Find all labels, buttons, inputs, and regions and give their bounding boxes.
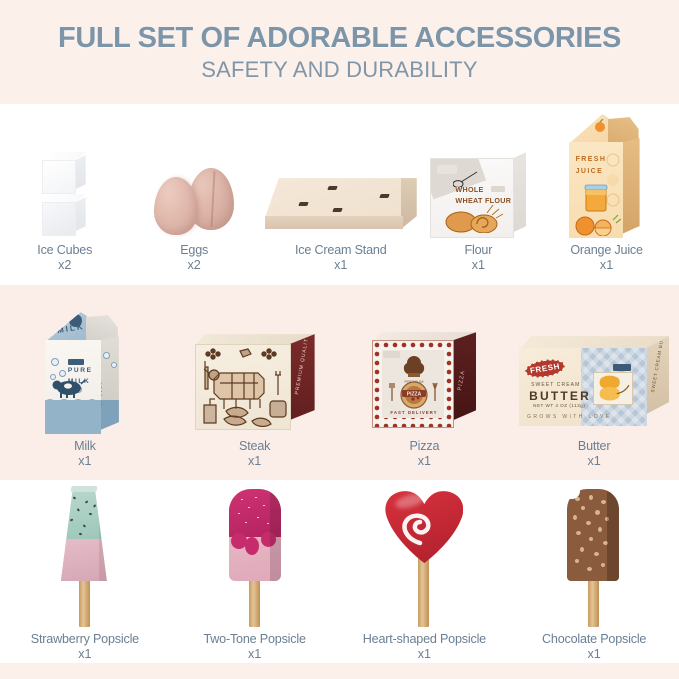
steak-box-icon: PREMIUM QUALITY BEEF [195, 334, 315, 434]
footer-band [0, 663, 679, 679]
butter-net-weight: NET WT 4 OZ (113g) [533, 403, 585, 408]
product-name: Orange Juice [570, 243, 643, 257]
product-name: Pizza [409, 439, 439, 453]
product-cell-chocolate-popsicle: Chocolate Popsicle x1 [509, 486, 679, 661]
header: FULL SET OF ADORABLE ACCESSORIES SAFETY … [0, 0, 679, 104]
caption: Chocolate Popsicle x1 [542, 632, 646, 661]
strawberry-popsicle-art [49, 489, 121, 627]
eggs-art [154, 168, 234, 238]
pizza-box-icon: PIZZA PREMIUM [372, 332, 476, 434]
product-cell-strawberry-popsicle: Strawberry Popsicle x1 [0, 486, 170, 661]
product-accessories-infographic: FULL SET OF ADORABLE ACCESSORIES SAFETY … [0, 0, 679, 679]
bread-illustration [437, 203, 509, 233]
product-qty: x2 [37, 258, 92, 272]
product-qty: x1 [295, 258, 387, 272]
product-qty: x1 [363, 647, 486, 661]
orange-juice-carton-icon: FRESH JUICE [565, 114, 649, 238]
product-name: Heart-shaped Popsicle [363, 632, 486, 646]
pizza-art: PIZZA PREMIUM [372, 332, 476, 434]
caption: Pizza x1 [409, 439, 439, 468]
ice-cream-stand-icon [265, 178, 417, 238]
heart-popsicle-icon [381, 489, 467, 627]
cow-illustration [51, 378, 85, 398]
butter-fresh-badge: FRESH [524, 357, 566, 380]
pizza-word: PIZZA [407, 391, 422, 397]
pizza-tagline: FAST DELIVERY [391, 410, 438, 415]
butter-main-text: BUTTER [529, 389, 591, 403]
oj-line1: FRESH [576, 156, 607, 163]
steak-art: PREMIUM QUALITY BEEF [195, 334, 315, 434]
caption: Heart-shaped Popsicle x1 [363, 632, 486, 661]
butter-box-icon: SWEET CREAM BUTTER FRESH SWEET CREAM BUT… [519, 336, 669, 434]
product-cell-orange-juice: FRESH JUICE [534, 112, 679, 272]
flour-art: WHOLE WHEAT FLOUR [430, 152, 526, 238]
product-name: Eggs [180, 243, 208, 257]
caption: Strawberry Popsicle x1 [31, 632, 139, 661]
oj-line2: JUICE [576, 168, 604, 175]
product-cell-two-tone-popsicle: Two-Tone Popsicle x1 [170, 486, 340, 661]
product-cell-pizza: PIZZA PREMIUM [340, 296, 510, 468]
eggs-icon [154, 168, 234, 238]
chocolate-popsicle-icon [559, 489, 629, 627]
product-cell-flour: WHOLE WHEAT FLOUR Flour x1 [423, 112, 535, 272]
ice-cubes-icon [34, 150, 96, 238]
product-qty: x1 [31, 647, 139, 661]
product-qty: x1 [239, 454, 270, 468]
product-name: Two-Tone Popsicle [203, 632, 305, 646]
strawberry-popsicle-icon [49, 489, 121, 627]
caption: Ice Cream Stand x1 [295, 243, 387, 272]
page-subtitle: SAFETY AND DURABILITY [201, 57, 477, 83]
product-name: Butter [578, 439, 610, 453]
flour-box-icon: WHOLE WHEAT FLOUR [430, 152, 526, 238]
caption: Steak x1 [239, 439, 270, 468]
milk-top-text: MILK [56, 322, 85, 335]
product-cell-steak: PREMIUM QUALITY BEEF [170, 296, 340, 468]
product-name: Ice Cubes [37, 243, 92, 257]
caption: Two-Tone Popsicle x1 [203, 632, 305, 661]
ice-cream-stand-art [265, 178, 417, 238]
product-cell-eggs: Eggs x2 [129, 112, 258, 272]
product-row-2: MILK MILK PURE MILK [0, 296, 679, 468]
product-name: Strawberry Popsicle [31, 632, 139, 646]
product-row-3: Strawberry Popsicle x1 [0, 486, 679, 661]
product-qty: x1 [203, 647, 305, 661]
product-name: Milk [74, 439, 96, 453]
product-qty: x1 [542, 647, 646, 661]
heart-popsicle-art [381, 489, 467, 627]
product-qty: x1 [74, 454, 96, 468]
butcher-diagram-illustration [196, 345, 291, 430]
product-qty: x1 [578, 454, 610, 468]
caption: Ice Cubes x2 [37, 243, 92, 272]
product-cell-milk: MILK MILK PURE MILK [0, 296, 170, 468]
pizza-side-text: PIZZA [457, 370, 466, 391]
caption: Milk x1 [74, 439, 96, 468]
milk-front-line1: PURE [68, 367, 93, 374]
fruit-pattern [605, 150, 621, 220]
milk-art: MILK MILK PURE MILK [41, 312, 129, 434]
product-cell-heart-popsicle: Heart-shaped Popsicle x1 [340, 486, 510, 661]
product-row-1: Ice Cubes x2 Eggs x2 [0, 112, 679, 272]
chocolate-popsicle-art [559, 489, 629, 627]
product-qty: x1 [409, 454, 439, 468]
butter-toast-window [593, 372, 633, 405]
two-tone-popsicle-art [221, 489, 289, 627]
caption: Butter x1 [578, 439, 610, 468]
product-cell-ice-cream-stand: Ice Cream Stand x1 [259, 112, 423, 272]
butter-grows-text: GROWS WITH LOVE [527, 414, 611, 420]
milk-carton-icon: MILK MILK PURE MILK [41, 312, 129, 434]
product-name: Flour [465, 243, 493, 257]
page-title: FULL SET OF ADORABLE ACCESSORIES [58, 22, 621, 55]
orange-juice-art: FRESH JUICE [565, 114, 649, 238]
two-tone-popsicle-icon [221, 489, 289, 627]
pizza-chef-logo: PREMIUM PIZZA [385, 353, 443, 417]
product-name: Ice Cream Stand [295, 243, 387, 257]
product-cell-ice-cubes: Ice Cubes x2 [0, 112, 129, 272]
steak-side-text: PREMIUM QUALITY BEEF [294, 315, 314, 396]
caption: Orange Juice x1 [570, 243, 643, 272]
butter-toast-illustration [594, 373, 632, 404]
flour-line1: WHOLE [455, 185, 483, 194]
ice-cubes-art [34, 150, 96, 238]
orange-logo-icon [593, 119, 607, 133]
butter-art: SWEET CREAM BUTTER FRESH SWEET CREAM BUT… [519, 336, 669, 434]
product-qty: x2 [180, 258, 208, 272]
caption: Flour x1 [465, 243, 493, 272]
product-cell-butter: SWEET CREAM BUTTER FRESH SWEET CREAM BUT… [509, 296, 679, 468]
product-name: Steak [239, 439, 270, 453]
product-qty: x1 [465, 258, 493, 272]
product-qty: x1 [570, 258, 643, 272]
caption: Eggs x2 [180, 243, 208, 272]
butter-sweet-cream: SWEET CREAM [531, 382, 580, 388]
butter-side-text: SWEET CREAM BUTTER [650, 325, 667, 393]
product-name: Chocolate Popsicle [542, 632, 646, 646]
